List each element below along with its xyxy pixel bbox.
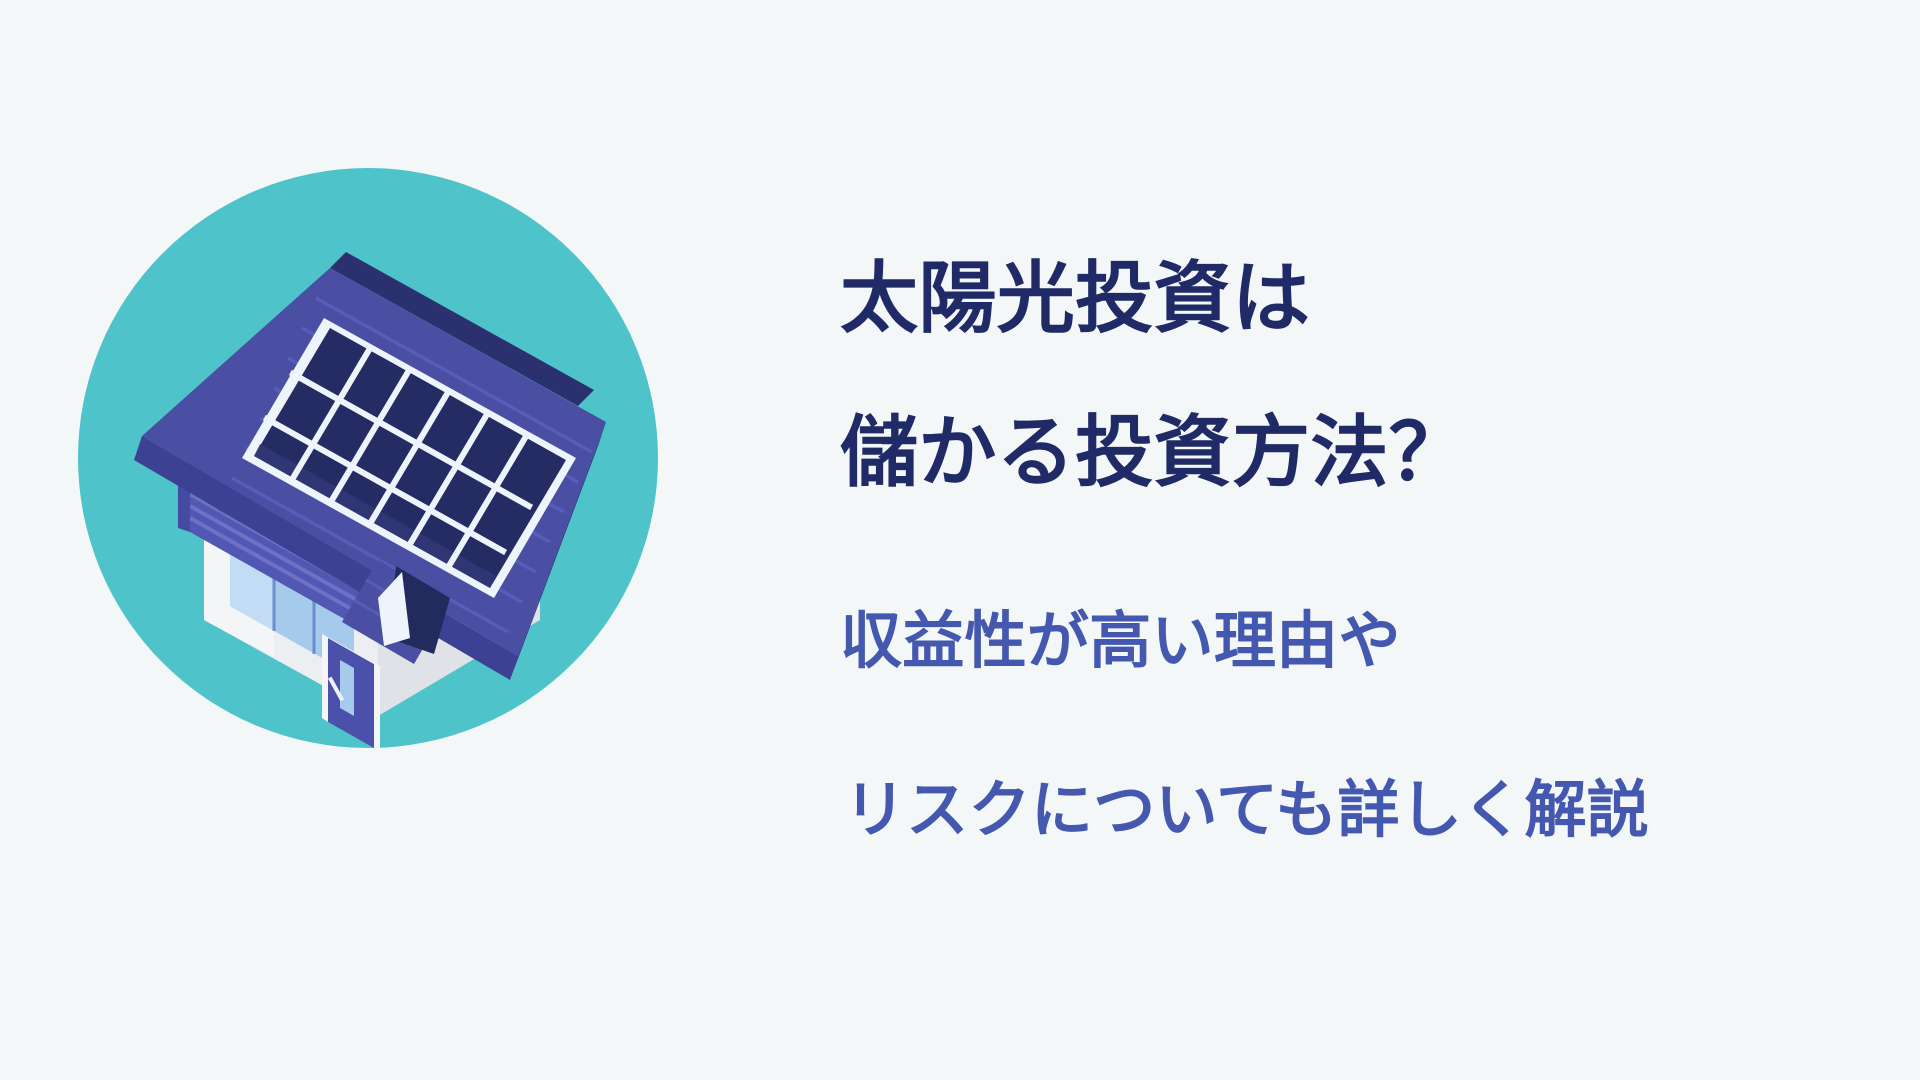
text-block: 太陽光投資は 儲かる投資方法？ 収益性が高い理由や リスクについても詳しく解説 — [840, 196, 1860, 927]
subhead-block: 収益性が高い理由や リスクについても詳しく解説 — [840, 589, 1860, 864]
poster-canvas: 太陽光投資は 儲かる投資方法？ 収益性が高い理由や リスクについても詳しく解説 — [0, 0, 1920, 1080]
subhead-line-1: 収益性が高い理由や — [840, 589, 1860, 696]
subhead-line-2: リスクについても詳しく解説 — [840, 758, 1860, 865]
headline-line-1: 太陽光投資は — [840, 248, 1860, 349]
front-door-glass — [340, 660, 354, 716]
headline-line-2: 儲かる投資方法？ — [840, 402, 1860, 503]
solar-panel-house-illustration — [78, 168, 658, 748]
